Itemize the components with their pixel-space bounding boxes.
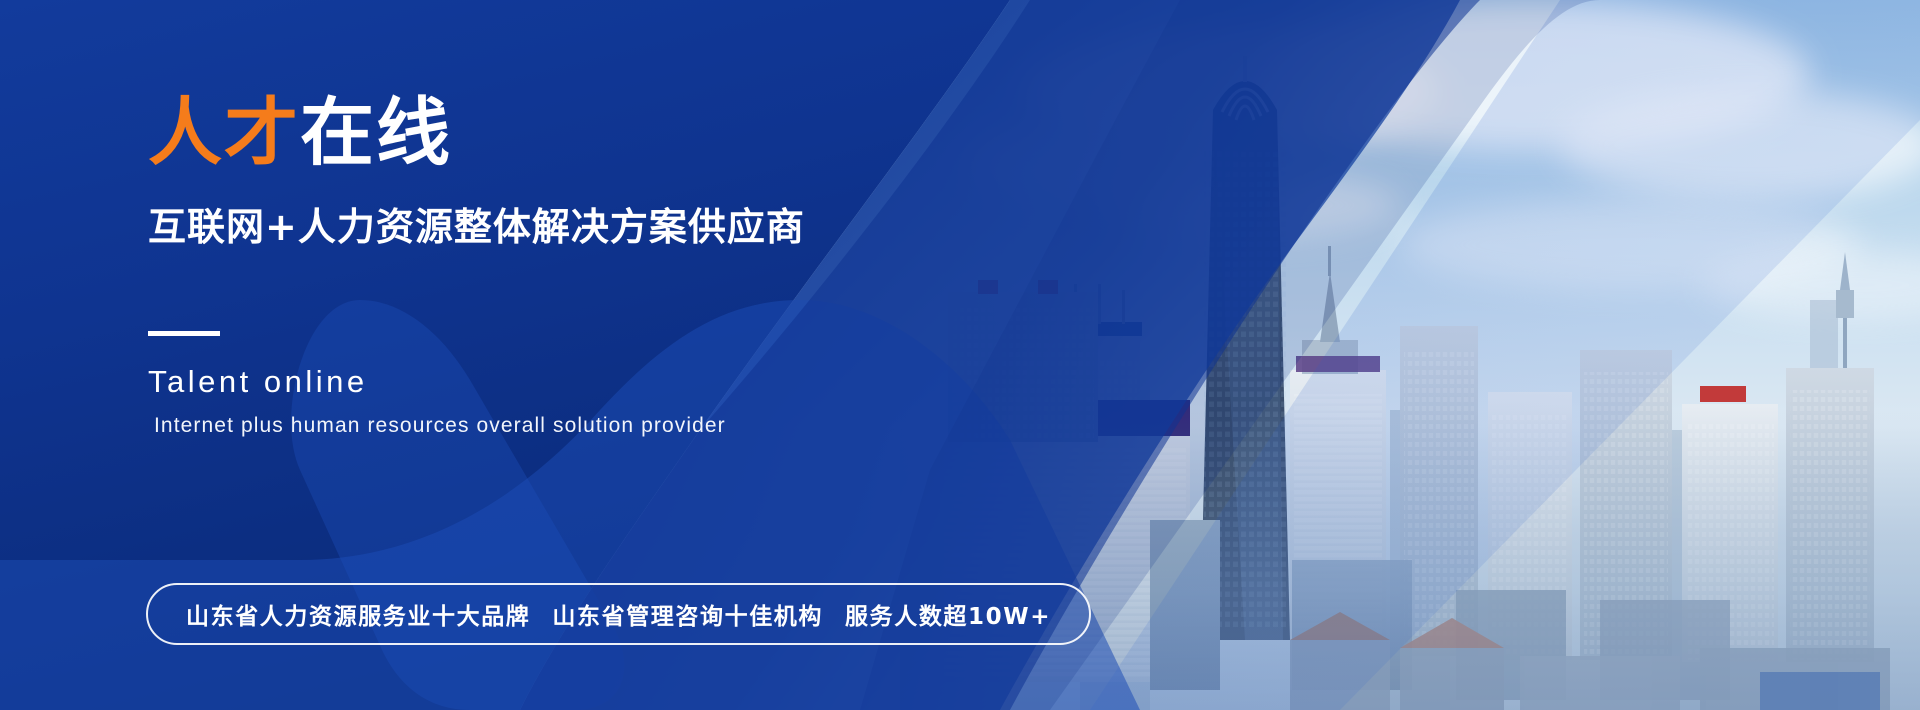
divider-rule [148,331,220,336]
page-title: 人才在线 [148,96,1000,170]
english-subtitle: Internet plus human resources overall so… [154,414,1000,438]
badge-item-1: 山东省人力资源服务业十大品牌 [186,597,530,631]
title-highlight: 人才 [148,90,300,176]
badge-item-2: 山东省管理咨询十佳机构 [552,597,823,631]
hero-banner: 人才在线 互联网+人力资源整体解决方案供应商 Talent online Int… [0,0,1920,710]
title-rest: 在线 [300,90,452,176]
credentials-pill: 山东省人力资源服务业十大品牌 山东省管理咨询十佳机构 服务人数超10W+ [146,583,1091,645]
badge-item-3: 服务人数超10W+ [845,597,1051,631]
english-title: Talent online [148,364,1000,400]
page-subtitle: 互联网+人力资源整体解决方案供应商 [148,196,1000,251]
